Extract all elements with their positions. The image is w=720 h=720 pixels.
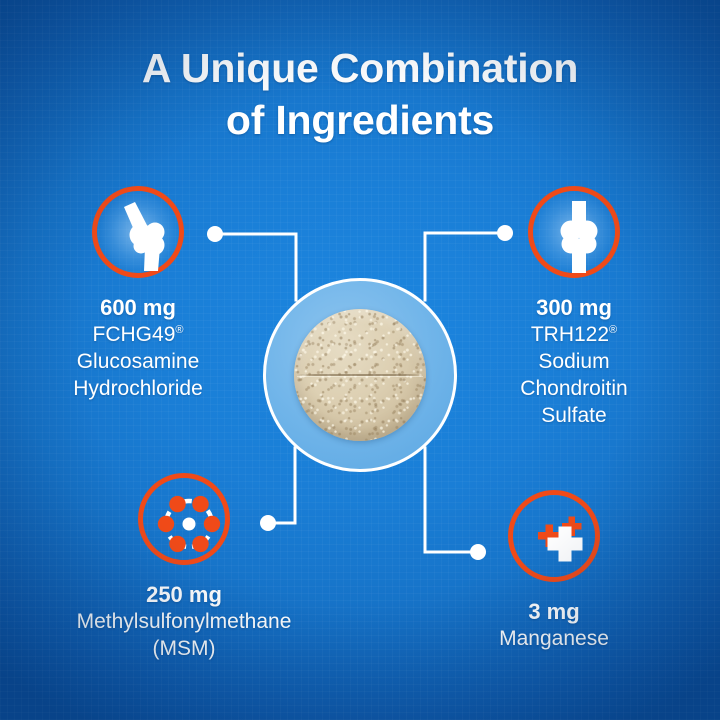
supplement-tablet-icon [294, 309, 426, 441]
connector-dot-bottom-left [260, 515, 276, 531]
molecule-icon [138, 473, 230, 565]
trademark-chondroitin: TRH122® [454, 321, 694, 348]
plus-cross-icon [508, 490, 600, 582]
amount-msm: 250 mg [24, 581, 344, 608]
bent-knee-joint-icon [92, 186, 184, 278]
connector-dot-bottom-right [470, 544, 486, 560]
page-title: A Unique Combination of Ingredients [0, 42, 720, 146]
trademark-glucosamine: FCHG49® [18, 321, 258, 348]
center-tablet-group [263, 278, 457, 472]
name-chondroitin-line-3: Sulfate [454, 402, 694, 429]
ingredient-label-msm: 250 mg Methylsulfonylmethane (MSM) [24, 581, 344, 662]
name-glucosamine-line-2: Hydrochloride [18, 375, 258, 402]
registered-symbol: ® [609, 324, 617, 336]
connector-dot-top-left [207, 226, 223, 242]
name-chondroitin-line-1: Sodium [454, 348, 694, 375]
name-glucosamine-line-1: Glucosamine [18, 348, 258, 375]
name-manganese-line-1: Manganese [434, 625, 674, 652]
amount-chondroitin: 300 mg [454, 294, 694, 321]
tablet-score-line [297, 374, 424, 376]
name-msm-line-2: (MSM) [24, 635, 344, 662]
ingredient-label-glucosamine: 600 mg FCHG49® Glucosamine Hydrochloride [18, 294, 258, 402]
title-line-1: A Unique Combination [0, 42, 720, 94]
name-msm-line-1: Methylsulfonylmethane [24, 608, 344, 635]
amount-glucosamine: 600 mg [18, 294, 258, 321]
title-line-2: of Ingredients [0, 94, 720, 146]
straight-knee-joint-icon [528, 186, 620, 278]
amount-manganese: 3 mg [434, 598, 674, 625]
registered-symbol: ® [175, 324, 183, 336]
name-chondroitin-line-2: Chondroitin [454, 375, 694, 402]
connector-dot-top-right [497, 225, 513, 241]
molecule-center-atom [183, 518, 196, 531]
ingredient-label-manganese: 3 mg Manganese [434, 598, 674, 652]
ingredient-label-chondroitin: 300 mg TRH122® Sodium Chondroitin Sulfat… [454, 294, 694, 429]
infographic-canvas: A Unique Combination of Ingredients [0, 0, 720, 720]
